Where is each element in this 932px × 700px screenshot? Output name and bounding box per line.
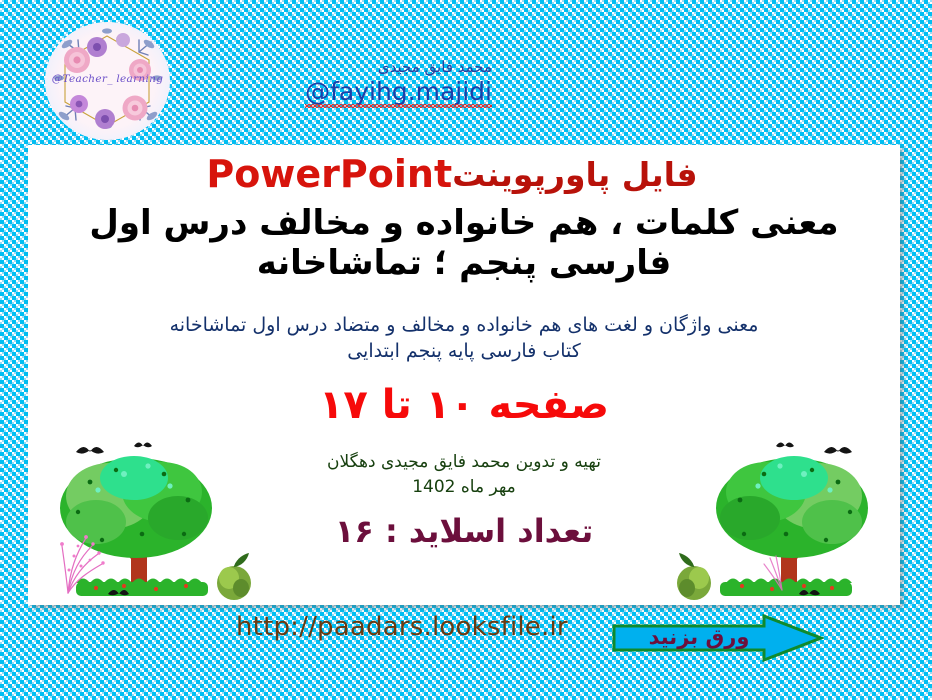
grass-icon [720,579,852,597]
logo-label: @Teacher_ learning [45,73,170,85]
subtitle-line-2: کتاب فارسی پایه پنجم ابتدایی [28,339,900,365]
page-title-line-2: فارسی پنجم ؛ تماشاخانه [28,243,900,283]
powerpoint-title-en: PowerPoint [206,152,452,196]
author-handle-block: محمد فایق مجیدی @fayihg.majidi [305,58,492,107]
powerpoint-title-row: فایل پاورپوینتPowerPoint [28,155,900,193]
slide-content-panel: فایل پاورپوینتPowerPoint معنی کلمات ، هم… [28,145,900,605]
next-slide-label: ورق بزنید [634,625,764,649]
next-slide-button[interactable]: ورق بزنید [612,614,824,662]
author-name-fa: محمد فایق مجیدی [305,58,492,76]
credit-line-1: تهیه و تدوین محمد فایق مجیدی دهگلان [327,452,601,472]
presentation-slide: @Teacher_ learning محمد فایق مجیدی @fayi… [0,0,932,700]
green-apple-icon [217,553,251,600]
subtitle: معنی واژگان و لغت های هم خانواده و مخالف… [28,313,900,364]
instagram-handle-text: @fayihg.majidi [305,77,492,106]
slide-header: @Teacher_ learning محمد فایق مجیدی @fayi… [0,0,932,145]
subtitle-line-1: معنی واژگان و لغت های هم خانواده و مخالف… [170,314,759,336]
green-apple-icon [677,553,711,600]
instagram-handle[interactable]: @fayihg.majidi [305,78,492,107]
powerpoint-title-fa: فایل پاورپوینت [452,155,698,194]
tree-illustration-left [38,430,268,605]
page-title-line-1: معنی کلمات ، هم خانواده و مخالف درس اول [89,203,838,243]
grass-icon [76,579,208,597]
page-title: معنی کلمات ، هم خانواده و مخالف درس اول … [28,203,900,283]
spellcheck-squiggle [305,104,492,108]
website-url[interactable]: http://paadars.looksfile.ir [236,612,568,642]
teacher-learning-logo: @Teacher_ learning [45,22,170,140]
flying-bird-icon [76,443,152,454]
tree-illustration-right [660,430,890,605]
flying-bird-icon [776,443,852,454]
tree-canopy-icon [716,456,868,558]
page-range-text: صفحه ۱۰ تا ۱۷ [28,385,900,425]
